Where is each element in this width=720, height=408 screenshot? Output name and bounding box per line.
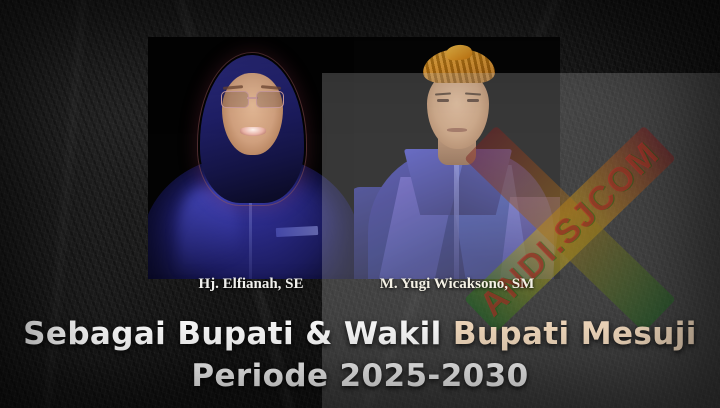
photo-panel <box>148 37 560 279</box>
portrait-elfianah <box>148 37 354 279</box>
headline-line-1: Sebagai Bupati & Wakil Bupati Mesuji <box>0 316 720 354</box>
headline-line-1-prefix: Sebagai Bupati & Wakil <box>23 316 453 352</box>
eye-left <box>437 99 449 102</box>
headline-line-2: Periode 2025-2030 <box>0 358 720 396</box>
caption-candidate-1: Hj. Elfianah, SE <box>148 276 354 293</box>
headline-block: Sebagai Bupati & Wakil Bupati Mesuji Per… <box>0 316 720 396</box>
glasses-lens-left <box>221 91 249 108</box>
smile-shape <box>240 127 266 136</box>
headline-line-1-tinted: Bupati Mesuji <box>453 316 697 352</box>
poster-root: ANDI.SJCOM Hj. Elfianah, SE M. Yugi Wica… <box>0 0 720 408</box>
glasses-icon <box>221 91 284 106</box>
mouth-shape <box>447 128 467 132</box>
eye-right <box>467 99 479 102</box>
portrait-yugi <box>354 37 560 279</box>
caption-candidate-2: M. Yugi Wicaksono, SM <box>354 276 560 293</box>
beskap-placket <box>454 153 459 279</box>
glasses-lens-right <box>256 91 284 108</box>
